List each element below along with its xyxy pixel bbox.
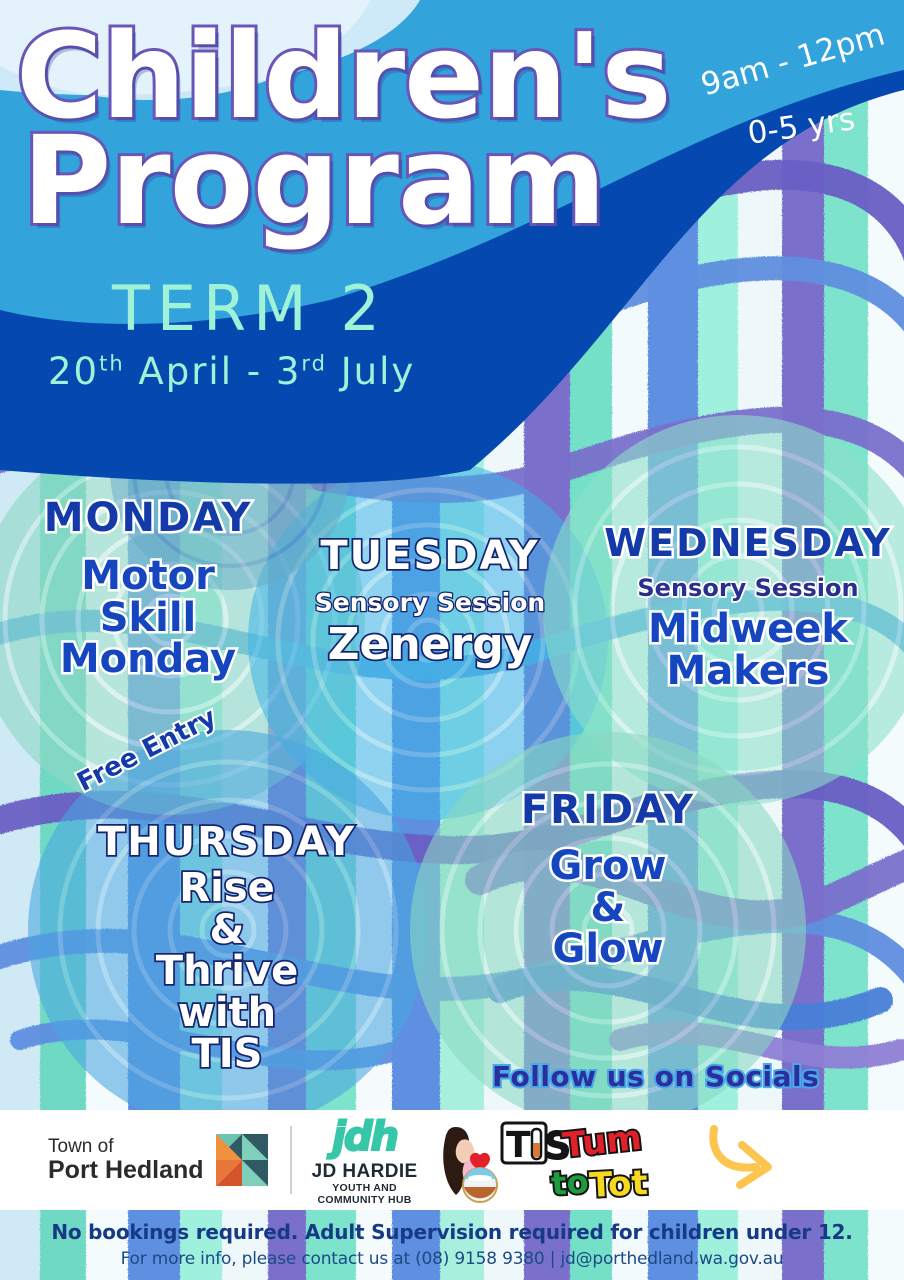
town-of-port-hedland-text: Town of Port Hedland (48, 1137, 204, 1183)
term-label: TERM 2 (112, 272, 387, 345)
day-title-line: Thrive (92, 951, 362, 993)
social-arrow-icon (698, 1123, 818, 1198)
day-title-line: Glow (462, 929, 754, 971)
date-end-month: July (327, 350, 415, 393)
svg-text:Tum: Tum (560, 1118, 643, 1166)
day-subtitle-tuesday: Sensory Session (296, 590, 564, 616)
day-name-thursday: THURSDAY (92, 822, 362, 862)
day-block-wednesday: WEDNESDAY Sensory Session Midweek Makers (596, 524, 900, 692)
day-title-line: Motor (18, 556, 278, 598)
tis-tum-to-tot-logo: TI S Tum to Tot (440, 1117, 656, 1203)
jdh-wordmark: jdh (312, 1114, 418, 1160)
svg-text:to: to (550, 1162, 590, 1203)
port-hedland-chevron-icon (216, 1134, 268, 1186)
town-line-2: Port Hedland (48, 1157, 204, 1183)
day-title-wednesday: Midweek Makers (596, 609, 900, 692)
day-name-monday: MONDAY (18, 498, 278, 538)
day-subtitle-wednesday: Sensory Session (596, 576, 900, 601)
date-start-suffix: th (99, 352, 125, 376)
date-mid: April - 3 (125, 350, 302, 393)
day-title-line: Rise (92, 868, 362, 910)
day-title-line: TIS (92, 1034, 362, 1076)
day-title-thursday: Rise & Thrive with TIS (92, 868, 362, 1076)
day-title-line: Monday (18, 639, 278, 681)
svg-text:Tot: Tot (588, 1163, 648, 1203)
day-title-line: with (92, 993, 362, 1035)
contact-details: For more info, please contact us at (08)… (0, 1249, 904, 1269)
day-title-line: Zenergy (296, 622, 564, 668)
time-age-badge: 9am - 12pm 0-5 yrs (694, 28, 904, 158)
follow-us-label: Follow us on Socials (492, 1060, 819, 1093)
day-block-monday: MONDAY Motor Skill Monday (18, 498, 278, 681)
day-title-line: & (92, 910, 362, 952)
poster-canvas: Children's Program TERM 2 20th April - 3… (0, 0, 904, 1280)
jdh-name-line-3: COMMUNITY HUB (312, 1195, 418, 1207)
date-end-suffix: rd (301, 352, 327, 376)
date-range: 20th April - 3rd July (48, 350, 415, 393)
logo-divider (290, 1126, 292, 1194)
day-name-friday: FRIDAY (462, 790, 754, 830)
age-range: 0-5 yrs (745, 101, 857, 152)
day-name-tuesday: TUESDAY (296, 536, 564, 576)
day-title-monday: Motor Skill Monday (18, 556, 278, 681)
contact-notice: No bookings required. Adult Supervision … (0, 1210, 904, 1244)
contact-bar: No bookings required. Adult Supervision … (0, 1210, 904, 1280)
day-block-friday: FRIDAY Grow & Glow (462, 790, 754, 971)
session-time: 9am - 12pm (697, 14, 899, 104)
day-title-line: Skill (18, 598, 278, 640)
day-block-tuesday: TUESDAY Sensory Session Zenergy (296, 536, 564, 668)
day-title-tuesday: Zenergy (296, 622, 564, 668)
jdh-name-line-2: YOUTH AND (312, 1183, 418, 1195)
day-title-friday: Grow & Glow (462, 846, 754, 971)
jd-hardie-logo: jdh JD HARDIE YOUTH AND COMMUNITY HUB (312, 1114, 418, 1207)
day-title-line: Midweek (596, 609, 900, 651)
town-line-1: Town of (48, 1137, 204, 1157)
town-of-port-hedland-logo: Town of Port Hedland (48, 1134, 268, 1186)
jdh-name-line-1: JD HARDIE (312, 1161, 418, 1183)
day-title-line: Makers (596, 651, 900, 693)
day-title-line: Grow (462, 846, 754, 888)
logo-bar: Town of Port Hedland jdh (0, 1110, 904, 1210)
day-name-wednesday: WEDNESDAY (596, 524, 900, 562)
poster-title: Children's Program (16, 22, 736, 237)
day-block-thursday: THURSDAY Rise & Thrive with TIS (92, 822, 362, 1076)
date-start-day: 20 (48, 350, 99, 393)
day-title-line: & (462, 888, 754, 930)
